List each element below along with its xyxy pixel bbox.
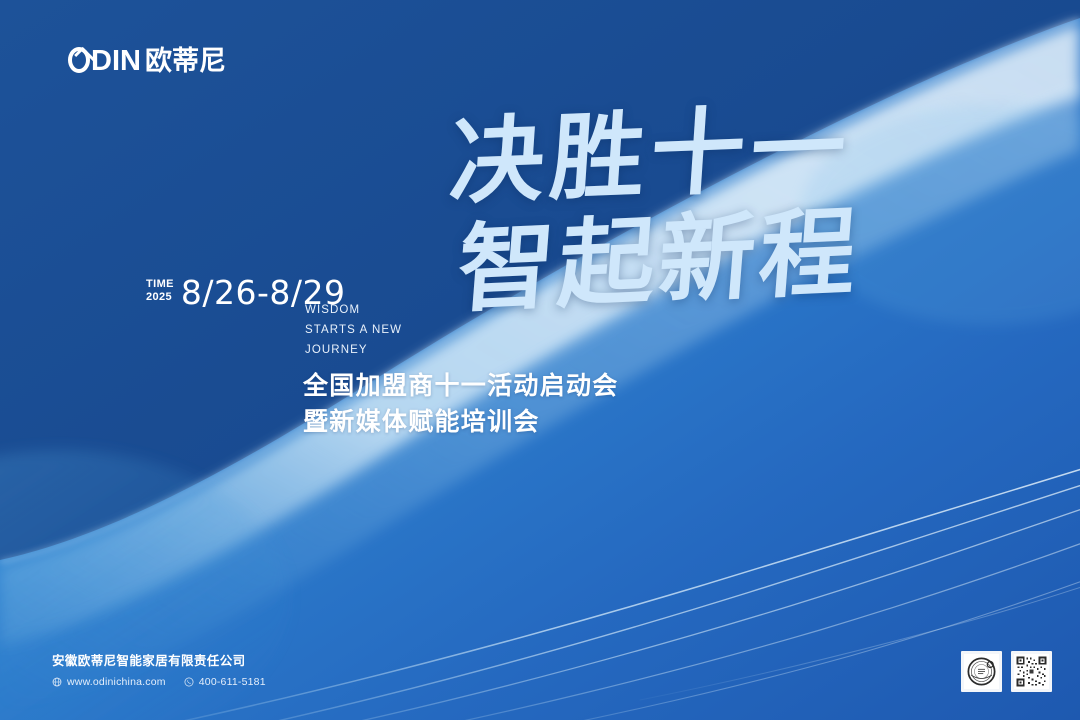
tagline-line-1: WISDOM <box>305 301 402 321</box>
contact-row: www.odinichina.com 400-611-5181 <box>52 677 266 688</box>
globe-icon <box>52 677 62 687</box>
date-label-year: 2025 <box>146 291 174 304</box>
date-label-time: TIME <box>146 278 174 291</box>
website-text: www.odinichina.com <box>67 677 166 688</box>
event-subtitle: 全国加盟商十一活动启动会 暨新媒体赋能培训会 <box>303 368 619 439</box>
poster-main-title: 决胜十一 智起新程 <box>440 110 910 340</box>
title-line-2: 智起新程 <box>454 204 863 318</box>
phone-item[interactable]: 400-611-5181 <box>184 677 266 688</box>
english-tagline: WISDOM STARTS A NEW JOURNEY <box>305 301 402 360</box>
phone-text: 400-611-5181 <box>199 677 266 688</box>
event-poster: DIN 欧蒂尼 决胜十一 智起新程 TIME 2025 8/26-8/29 WI… <box>0 0 1080 720</box>
subtitle-line-2: 暨新媒体赋能培训会 <box>303 404 619 440</box>
qr-code-group <box>961 651 1052 692</box>
qr-code-official-seal[interactable] <box>961 651 1002 692</box>
company-name: 安徽欧蒂尼智能家居有限责任公司 <box>52 655 266 668</box>
date-label-group: TIME 2025 <box>146 278 174 307</box>
title-line-1: 决胜十一 <box>447 101 855 210</box>
poster-footer: 安徽欧蒂尼智能家居有限责任公司 www.odinichina.com 400-6… <box>52 655 266 687</box>
logo-chinese-text: 欧蒂尼 <box>145 48 226 75</box>
phone-icon <box>184 677 194 687</box>
tagline-line-3: JOURNEY <box>305 341 402 361</box>
qr-code-wechat[interactable] <box>1011 651 1052 692</box>
brand-logo[interactable]: DIN 欧蒂尼 <box>68 44 226 76</box>
website-item[interactable]: www.odinichina.com <box>52 677 166 688</box>
logo-latin-text: DIN <box>91 47 141 76</box>
tagline-line-2: STARTS A NEW <box>305 321 402 341</box>
logo-o-mark-icon <box>68 44 90 76</box>
subtitle-line-1: 全国加盟商十一活动启动会 <box>303 368 619 404</box>
